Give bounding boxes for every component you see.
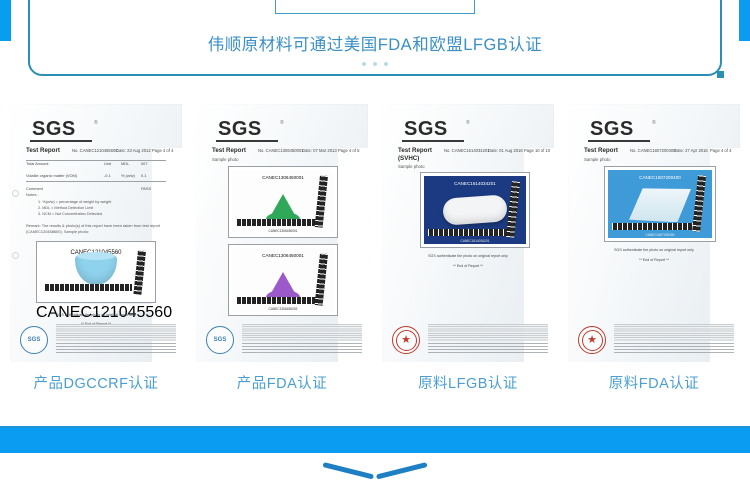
sample-code-label: CANEC1614034201 <box>454 181 496 186</box>
report-title-sub: (SVHC) <box>398 155 419 162</box>
certificate-card-dgccrf[interactable]: SGS ® Test Report No. CANEC121045560C Da… <box>10 104 182 362</box>
table-row-label: Volatile organic matter (VOM) <box>26 173 77 178</box>
end-of-report-note: ** End of Report ** <box>453 264 483 268</box>
authenticity-note: SGS authenticate the photo on original r… <box>428 254 508 258</box>
sample-object-drop-purple-icon <box>266 258 300 302</box>
results-table: Total Amount Unit MDL 007 Volatile organ… <box>26 160 166 178</box>
dot-1 <box>362 62 366 66</box>
report-number: No. CANEC1607200400 <box>630 148 676 153</box>
sample-photo-caption: CANEC1607200400 <box>646 233 675 237</box>
table-cell-result: 0.1 <box>141 173 146 178</box>
ruler-vertical-icon <box>692 175 706 231</box>
remark-text: Remark: The results & photo(s) of this r… <box>26 223 171 234</box>
sample-photo: CANEC1607200400 CANEC1607200400 <box>608 170 712 238</box>
footer-hatch-band <box>242 324 362 341</box>
trademark-icon: ® <box>94 120 98 126</box>
sgs-seal-icon: SGS <box>20 326 48 354</box>
report-number: No. CANEC121045560C <box>72 148 118 153</box>
punch-hole-icon <box>12 252 19 259</box>
sample-photo: CANEC1306450001 CANEC1306450002 <box>232 248 334 312</box>
dot-3 <box>384 62 388 66</box>
trademark-icon: ® <box>280 120 284 126</box>
notes-heading: Notes : <box>26 192 39 197</box>
table-row-label: Comment <box>26 186 43 191</box>
ruler-horizontal-icon <box>428 229 508 236</box>
section-title-plaque: 证书展示 <box>275 0 475 14</box>
sgs-logo: SGS <box>218 118 262 141</box>
chevron-right-stroke <box>376 462 428 479</box>
footer-address-lines <box>242 343 362 353</box>
footer-address-lines <box>614 343 734 353</box>
captions-row: 产品DGCCRF认证 产品FDA认证 原料LFGB认证 原料FDA认证 <box>10 372 740 393</box>
report-date: Date: 07 Mar 2013 <box>302 148 337 153</box>
certification-section: 证书展示 伟顺原材料可通过美国FDA和欧盟LFGB认证 SGS ® Test R… <box>0 0 750 479</box>
sgs-logo-underline <box>588 140 650 142</box>
report-date: Date: 23 Aug 2012 <box>116 148 151 153</box>
footer-address-lines <box>428 343 548 353</box>
sample-photo: CANEC121045560 <box>40 245 152 299</box>
table-cell-mdl: % (w/w) <box>121 173 135 178</box>
table-cell-unit: Unit <box>104 161 111 166</box>
ruler-horizontal-icon <box>236 297 316 304</box>
punch-hole-icon <box>12 190 19 197</box>
footer-address-lines <box>56 343 176 353</box>
report-title: Test Report <box>584 147 618 154</box>
caption-dgccrf: 产品DGCCRF认证 <box>10 372 182 393</box>
end-of-report-note: ** End of Report ** <box>639 258 669 262</box>
report-title: Test Report <box>212 147 246 154</box>
certificate-card-fda-material[interactable]: SGS ® Test Report Sample photo No. CANEC… <box>568 104 740 362</box>
report-date: Date: 01 Aug 2016 <box>488 148 523 153</box>
sgs-logo-underline <box>30 140 92 142</box>
sample-photo: CANEC1306450001 CANEC1306450001 <box>232 170 334 234</box>
sample-photo-caption: CANEC1614034201 <box>461 239 490 243</box>
sample-object-drop-green-icon <box>266 180 300 224</box>
footer-hatch-band <box>56 324 176 341</box>
sample-photo-label: Sample photo <box>584 157 611 162</box>
report-number: No. CANEC1614034201 <box>444 148 490 153</box>
sample-photo-label: Sample photo <box>398 164 425 169</box>
sgs-logo: SGS <box>32 118 76 141</box>
table-cell-comment: PASS <box>141 186 151 191</box>
sample-photo-frame: CANEC121045560 <box>36 241 156 303</box>
chevron-left-stroke <box>322 462 374 479</box>
notes-line-3: 3. NCM = Not Concentration Detected <box>38 211 102 217</box>
scroll-down-chevron-icon[interactable] <box>325 462 425 482</box>
sample-photo-caption: CANEC1306450001 <box>269 229 298 233</box>
sample-object-bowl-icon <box>75 255 117 285</box>
authenticity-note: SGS authenticate the photo on original r… <box>614 248 694 252</box>
caption-fda-product: 产品FDA认证 <box>196 372 368 393</box>
sample-code-label: CANEC1607200400 <box>639 175 681 180</box>
certificate-footer: SGS <box>204 322 362 356</box>
footer-hatch-band <box>428 324 548 341</box>
caption-lfgb-material: 原料LFGB认证 <box>382 372 554 393</box>
cnas-red-star-seal-icon: ★ <box>392 326 420 354</box>
sgs-logo: SGS <box>404 118 448 141</box>
report-title: Test Report <box>26 147 60 154</box>
table-row-label: Total Amount <box>26 161 49 166</box>
table-cell-mdl: MDL <box>121 161 129 166</box>
ruler-vertical-icon <box>133 250 146 295</box>
trademark-icon: ® <box>652 120 656 126</box>
sample-photo-label: Sample photo <box>212 157 239 162</box>
table-cell-result: 007 <box>141 161 148 166</box>
report-number: No. CANEC1306450001 <box>258 148 304 153</box>
ruler-horizontal-icon <box>236 219 316 226</box>
sample-photo-caption: CANEC1306450002 <box>269 307 298 311</box>
cnas-red-star-seal-icon: ★ <box>578 326 606 354</box>
certificate-footer: SGS <box>18 322 176 356</box>
caption-fda-material: 原料FDA认证 <box>568 372 740 393</box>
decorative-dots <box>0 62 750 66</box>
ruler-vertical-icon <box>315 175 328 228</box>
table-cell-unit: -0.1 <box>104 173 111 178</box>
certificates-row: SGS ® Test Report No. CANEC121045560C Da… <box>10 104 740 362</box>
photo-caption-wrap: CANEC121045560 <box>36 304 156 311</box>
frame-corner-dot <box>717 71 724 78</box>
sample-photo-frame-bottom: CANEC1306450001 CANEC1306450002 <box>228 244 338 316</box>
authenticity-note: SGS authenticate the photo on original r… <box>56 313 136 317</box>
sample-photo-frame: CANEC1607200400 CANEC1607200400 <box>604 166 716 242</box>
sample-object-pill-icon <box>442 194 508 225</box>
star-icon: ★ <box>401 335 411 346</box>
certificate-footer: ★ <box>390 322 548 356</box>
sample-photo-frame: CANEC1614034201 CANEC1614034201 <box>420 172 530 248</box>
section-subtitle: 伟顺原材料可通过美国FDA和欧盟LFGB认证 <box>0 31 750 55</box>
bottom-blue-band <box>0 428 750 453</box>
report-date: Date: 27 Apr 2016 <box>674 148 708 153</box>
star-icon: ★ <box>587 335 597 346</box>
certificate-footer: ★ <box>576 322 734 356</box>
sgs-logo-underline <box>402 140 464 142</box>
sample-photo: CANEC1614034201 CANEC1614034201 <box>424 176 526 244</box>
sgs-logo: SGS <box>590 118 634 141</box>
ruler-vertical-icon <box>506 181 520 237</box>
sample-photo-frame-top: CANEC1306450001 CANEC1306450001 <box>228 166 338 238</box>
dot-2 <box>373 62 377 66</box>
sgs-seal-icon: SGS <box>206 326 234 354</box>
certificate-card-fda-product[interactable]: SGS ® Test Report Sample photo No. CANEC… <box>196 104 368 362</box>
report-title: Test Report <box>398 147 432 154</box>
trademark-icon: ® <box>466 120 470 126</box>
ruler-horizontal-icon <box>612 223 693 230</box>
footer-hatch-band <box>614 324 734 341</box>
ruler-vertical-icon <box>315 253 328 306</box>
certificate-card-lfgb-material[interactable]: SGS ® Test Report (SVHC) Sample photo No… <box>382 104 554 362</box>
sgs-logo-underline <box>216 140 278 142</box>
sample-object-sheet-icon <box>629 188 691 222</box>
ruler-horizontal-icon <box>44 284 131 291</box>
